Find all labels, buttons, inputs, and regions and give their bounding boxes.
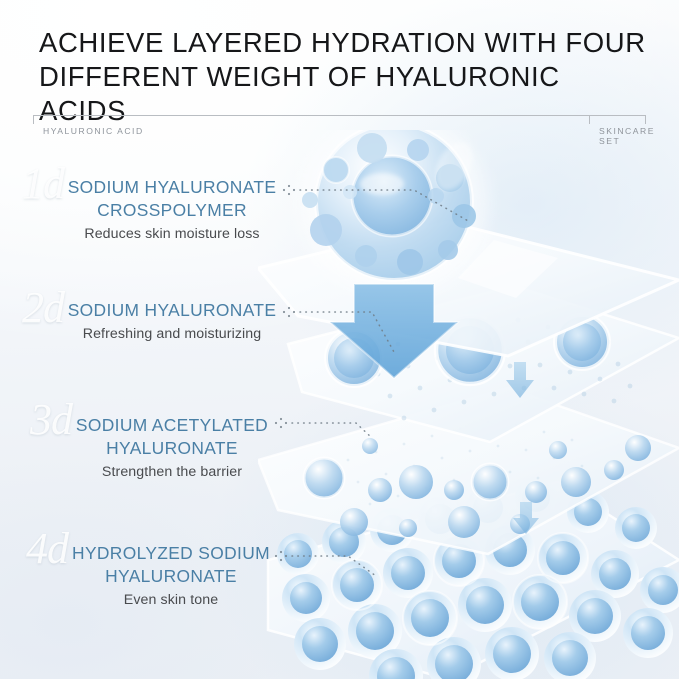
ingredient-subtitle-1: Reduces skin moisture loss <box>46 224 298 244</box>
bracket-label-right: SKINCARE SET <box>599 126 655 146</box>
ingredient-subtitle-3: Strengthen the barrier <box>56 462 288 482</box>
ingredient-heading-3-line1: SODIUM ACETYLATED <box>56 414 288 437</box>
ingredient-subtitle-2: Refreshing and moisturizing <box>46 324 298 344</box>
bracket-label-left: HYALURONIC ACID <box>43 126 144 136</box>
ingredient-heading-1-line1: SODIUM HYALURONATE <box>46 176 298 199</box>
ingredient-heading-2: SODIUM HYALURONATE <box>46 299 298 322</box>
ingredient-heading-1-line2: CROSSPOLYMER <box>46 199 298 222</box>
ingredient-item-3: SODIUM ACETYLATED HYALURONATE Strengthen… <box>56 414 288 482</box>
bracket-tick-left <box>33 115 34 124</box>
ingredient-heading-4-line1: HYDROLYZED SODIUM <box>50 542 292 565</box>
infographic-canvas: ACHIEVE LAYERED HYDRATION WITH FOUR DIFF… <box>0 0 679 679</box>
page-title: ACHIEVE LAYERED HYDRATION WITH FOUR DIFF… <box>39 26 649 128</box>
ingredient-item-4: HYDROLYZED SODIUM HYALURONATE Even skin … <box>50 542 292 610</box>
bracket-line <box>33 115 646 116</box>
ingredient-heading-1: SODIUM HYALURONATE CROSSPOLYMER <box>46 176 298 222</box>
ingredient-heading-3-line2: HYALURONATE <box>56 437 288 460</box>
ingredient-heading-2-line1: SODIUM HYALURONATE <box>46 299 298 322</box>
ingredient-heading-4: HYDROLYZED SODIUM HYALURONATE <box>50 542 292 588</box>
bracket-tick-middle <box>589 115 590 124</box>
ingredient-heading-4-line2: HYALURONATE <box>50 565 292 588</box>
ingredient-item-1: SODIUM HYALURONATE CROSSPOLYMER Reduces … <box>46 176 298 244</box>
product-illustration <box>258 130 679 679</box>
bracket-tick-right <box>645 115 646 124</box>
ingredient-subtitle-4: Even skin tone <box>50 590 292 610</box>
category-bracket: HYALURONIC ACID SKINCARE SET <box>33 115 646 145</box>
ingredient-item-2: SODIUM HYALURONATE Refreshing and moistu… <box>46 299 298 344</box>
ingredient-heading-3: SODIUM ACETYLATED HYALURONATE <box>56 414 288 460</box>
